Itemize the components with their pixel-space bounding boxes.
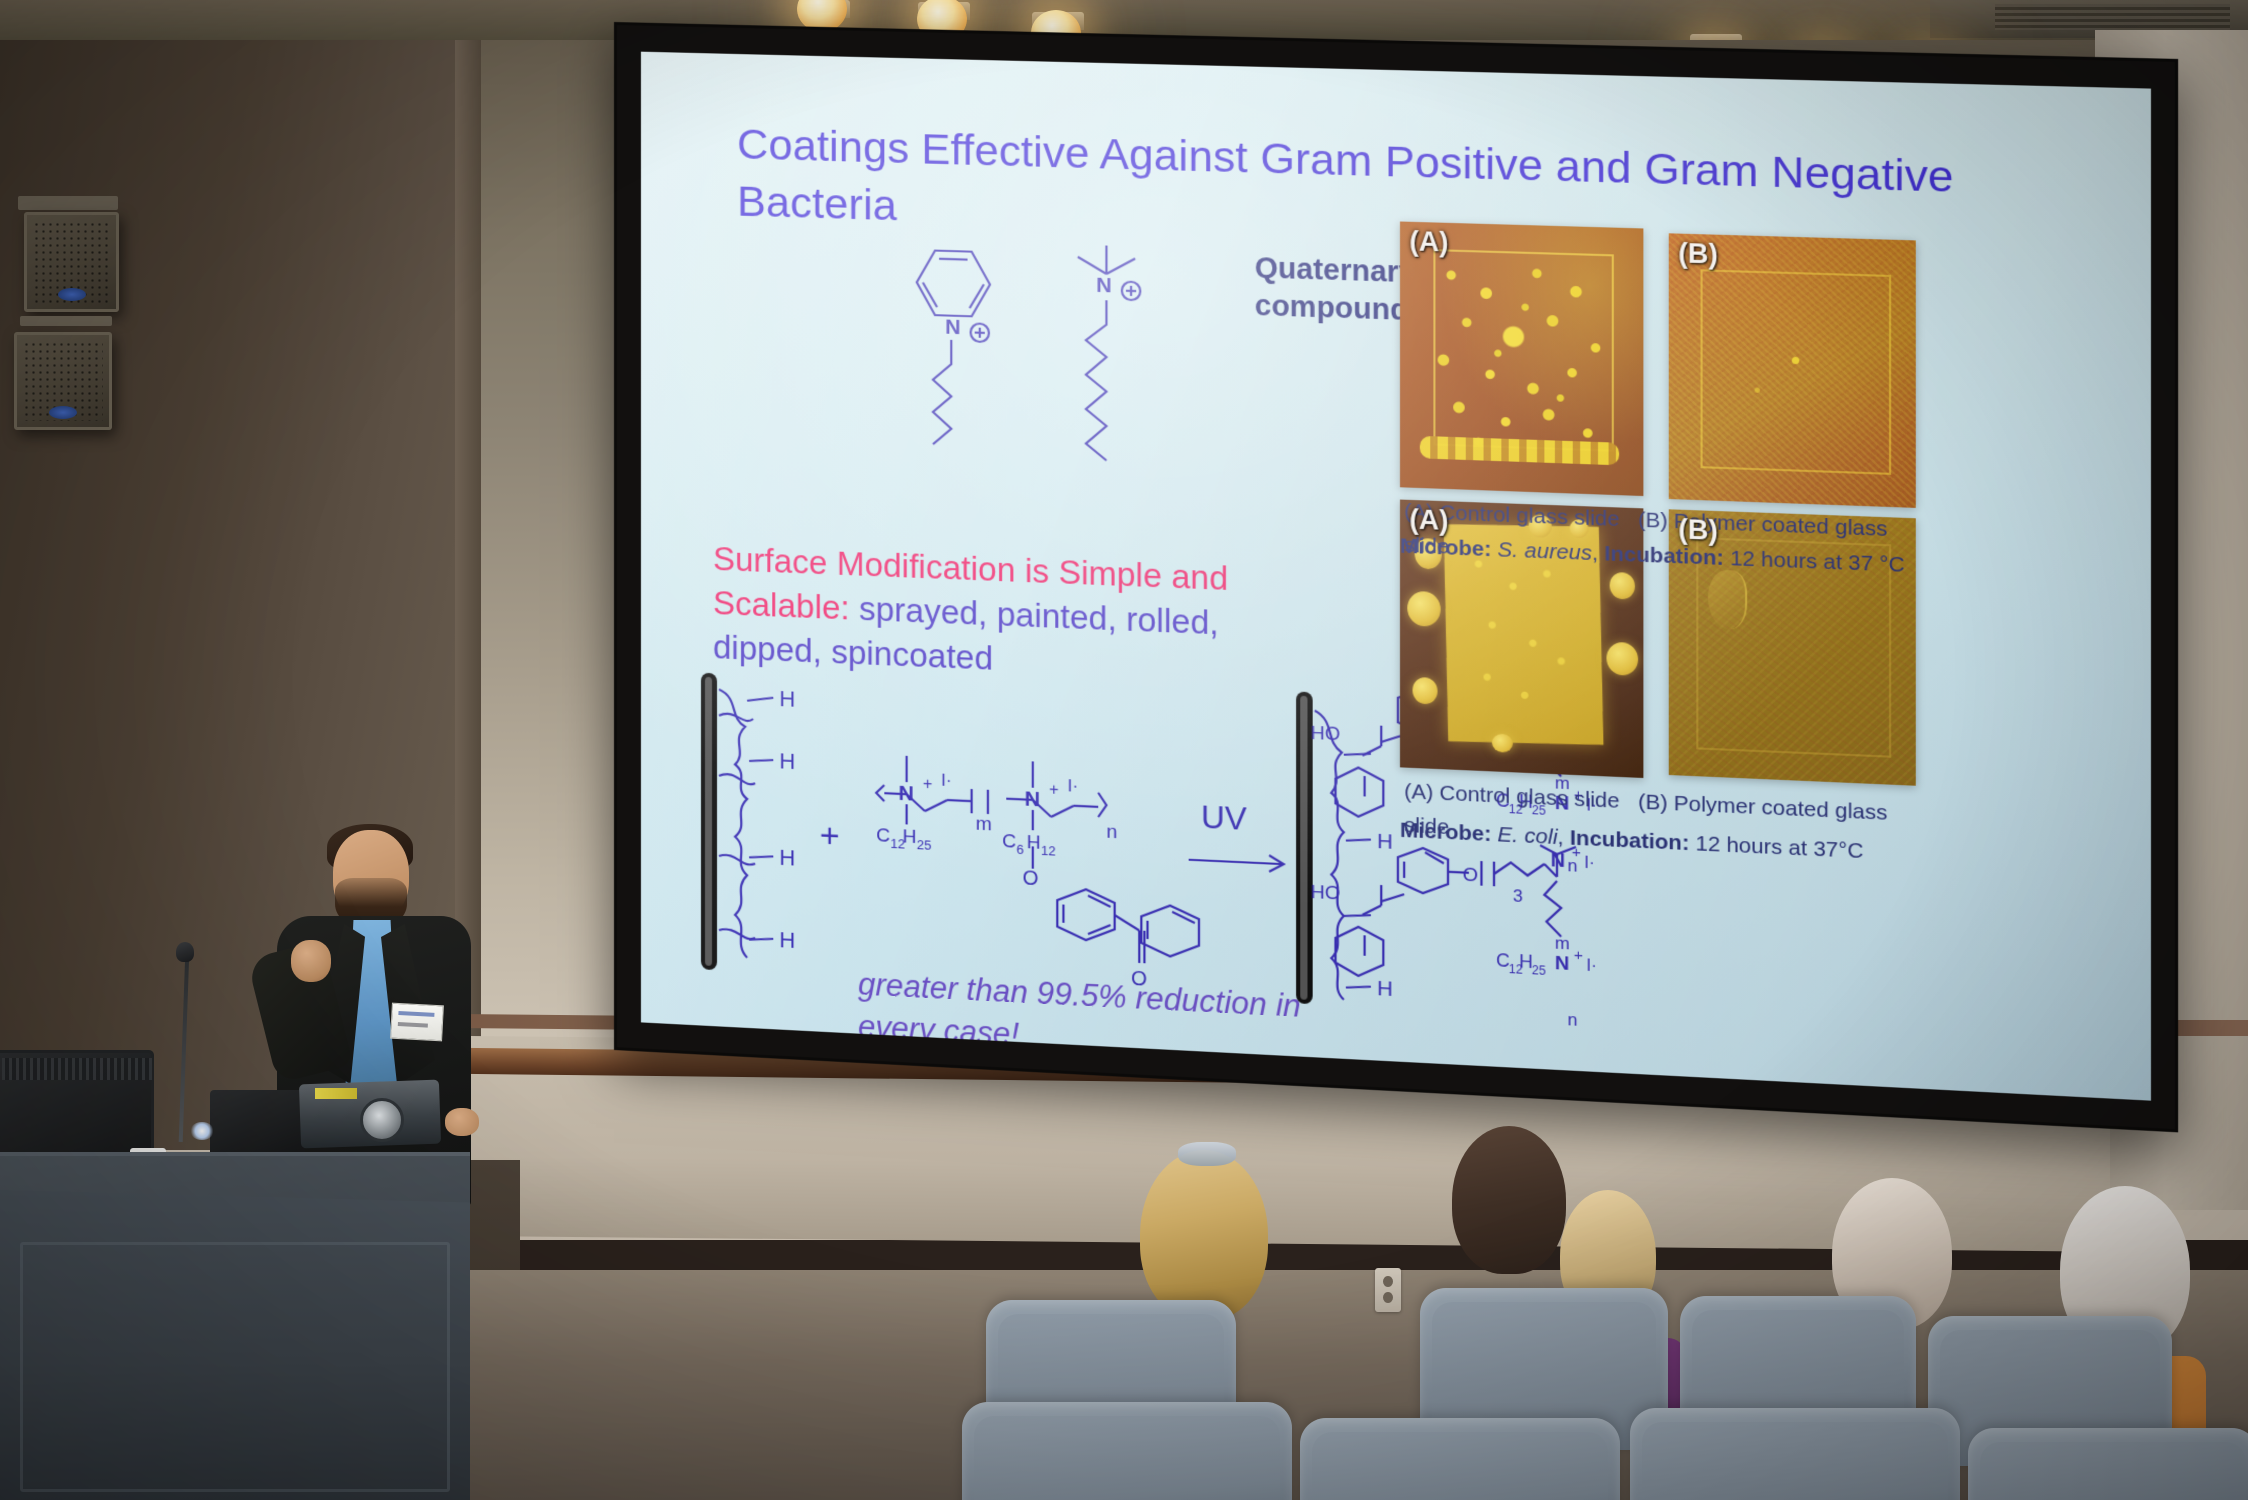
quaternary-ammonium-structure-diagram: N xyxy=(1033,223,1238,483)
svg-text:6: 6 xyxy=(1016,842,1023,858)
pyridinium-structure-diagram: N xyxy=(882,231,1055,469)
svg-text:H: H xyxy=(779,927,795,953)
bacterial-blob xyxy=(1412,677,1437,705)
sunglasses-on-head-icon xyxy=(1178,1142,1236,1166)
svg-text:N: N xyxy=(1096,274,1112,298)
svg-text:N: N xyxy=(899,782,914,806)
chair-cushion xyxy=(1642,1422,1948,1500)
audience-chair-front xyxy=(1968,1428,2248,1500)
bacterial-blob xyxy=(1609,572,1634,600)
uv-arrow-label: UV xyxy=(1201,798,1248,837)
caption-bottom-incubation-value: 12 hours at 37°C xyxy=(1695,832,1863,863)
svg-text:H: H xyxy=(779,686,795,712)
screenshot-root: Coatings Effective Against Gram Positive… xyxy=(0,0,2248,1500)
name-badge xyxy=(390,1003,444,1042)
chair-cushion xyxy=(974,1416,1280,1500)
svg-text:I·: I· xyxy=(941,770,952,790)
audience-person-head xyxy=(1140,1150,1268,1320)
svg-text:HO: HO xyxy=(1311,723,1341,746)
svg-text:I·: I· xyxy=(1584,855,1594,873)
svg-text:I·: I· xyxy=(1068,776,1079,796)
svg-text:3: 3 xyxy=(1513,886,1523,906)
isolated-colony xyxy=(1792,357,1799,364)
panel-label-a: (A) xyxy=(1409,226,1448,259)
svg-text:N: N xyxy=(1025,787,1040,811)
svg-text:n: n xyxy=(1106,821,1117,843)
caption-top-incubation-value: 12 hours at 37 °C xyxy=(1730,547,1905,577)
caption-bottom-incubation-key: Incubation: xyxy=(1570,826,1689,855)
bacterial-colonies xyxy=(1424,249,1619,469)
svg-text:I·: I· xyxy=(1586,957,1596,975)
status-led-icon xyxy=(190,1122,214,1140)
badge-line-name xyxy=(398,1022,428,1028)
caption-top-microbe-value: S. aureus xyxy=(1498,538,1592,565)
panel-label-a: (A) xyxy=(1409,504,1448,537)
svg-text:N: N xyxy=(1555,953,1569,975)
ceiling-vent-grille xyxy=(1995,4,2230,30)
svg-text:O: O xyxy=(1463,864,1478,886)
svg-text:C: C xyxy=(1002,831,1016,853)
svg-text:N: N xyxy=(945,315,960,339)
speaker-logo-icon xyxy=(49,406,77,419)
svg-text:H: H xyxy=(903,826,917,848)
caption-top-microbe-key: Microbe: xyxy=(1400,534,1491,561)
bacterial-blob xyxy=(1607,642,1639,676)
projection-screen-surface: Coatings Effective Against Gram Positive… xyxy=(641,52,2151,1101)
micrograph-panel-top-b: (B) xyxy=(1669,233,1916,508)
slide-outline xyxy=(1701,269,1891,475)
bacterial-blob xyxy=(1492,734,1513,753)
projection-screen-frame: Coatings Effective Against Gram Positive… xyxy=(614,22,2178,1132)
bacterial-blob xyxy=(1407,591,1440,627)
caption-bottom-microbe-value: E. coli xyxy=(1498,823,1558,849)
panel-label-b: (B) xyxy=(1678,238,1718,271)
speaker-bracket xyxy=(18,196,118,210)
svg-text:H: H xyxy=(779,845,795,871)
svg-text:HO: HO xyxy=(1311,882,1341,905)
wall-speaker-upper xyxy=(24,212,119,312)
svg-text:H: H xyxy=(1027,832,1041,854)
projector-warning-label xyxy=(315,1088,357,1099)
projector-lens-icon xyxy=(360,1098,404,1142)
chair-cushion xyxy=(1980,1442,2246,1500)
svg-text:H: H xyxy=(779,748,795,774)
svg-text:+: + xyxy=(820,816,840,855)
audience-chair-front xyxy=(1630,1408,1960,1500)
chair-cushion xyxy=(1312,1432,1608,1500)
svg-text:n: n xyxy=(1568,1010,1578,1030)
audience-chair-front xyxy=(1300,1418,1620,1500)
svg-text:+: + xyxy=(1574,946,1583,964)
audience-person-head xyxy=(1452,1126,1566,1274)
speaker-logo-icon xyxy=(58,288,86,301)
svg-text:12: 12 xyxy=(1041,843,1056,859)
wall-speaker-lower xyxy=(14,332,112,430)
panel-label-b: (B) xyxy=(1678,514,1718,547)
speaker-bracket xyxy=(20,316,112,326)
svg-text:+: + xyxy=(923,776,932,794)
svg-text:25: 25 xyxy=(1532,963,1546,978)
svg-text:O: O xyxy=(1023,867,1039,890)
presenter-hand-right xyxy=(445,1108,479,1136)
svg-text:m: m xyxy=(1555,933,1570,953)
audience-chair-front xyxy=(962,1402,1292,1500)
presenter-hand-gesture xyxy=(291,940,331,982)
wall-electrical-outlet xyxy=(1375,1268,1401,1312)
svg-text:H: H xyxy=(1377,977,1393,1001)
svg-text:H: H xyxy=(1377,830,1393,854)
caption-bottom-microbe-key: Microbe: xyxy=(1400,818,1491,846)
svg-text:+: + xyxy=(1049,781,1059,799)
podium-front-panel xyxy=(20,1242,450,1492)
microphone-icon xyxy=(176,942,194,962)
svg-text:C: C xyxy=(876,825,890,847)
monitor-vents xyxy=(2,1058,152,1080)
caption-bottom-legend-a: (A) Control glass slide xyxy=(1404,780,1619,813)
micrograph-panel-top-a: (A) xyxy=(1400,222,1643,497)
svg-text:25: 25 xyxy=(917,837,932,853)
svg-text:m: m xyxy=(976,813,992,835)
badge-line-logo xyxy=(398,1011,434,1017)
